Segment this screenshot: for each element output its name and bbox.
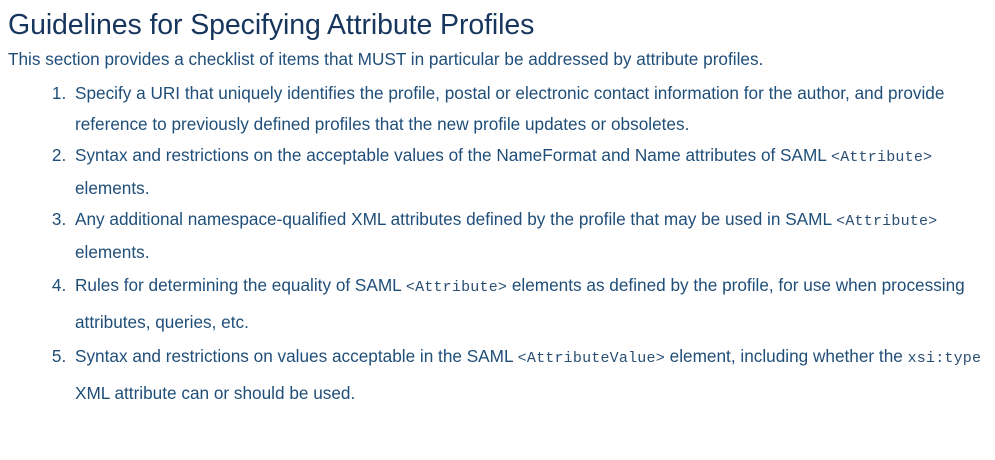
list-item: Syntax and restrictions on the acceptabl… [71, 140, 985, 204]
inline-code: <AttributeValue> [518, 350, 665, 367]
list-item-text: XML attribute can or should be used. [75, 383, 355, 403]
document-page: Guidelines for Specifying Attribute Prof… [0, 0, 995, 460]
inline-code: <Attribute> [831, 149, 932, 166]
inline-code: <Attribute> [836, 213, 937, 230]
guidelines-ordered-list: Specify a URI that uniquely identifies t… [8, 78, 985, 410]
list-item: Rules for determining the equality of SA… [71, 268, 985, 339]
list-item: Any additional namespace-qualified XML a… [71, 204, 985, 268]
list-item-text: element, including whether the [665, 346, 908, 366]
list-item-text: Specify a URI that uniquely identifies t… [75, 83, 944, 134]
list-item-text: Rules for determining the equality of SA… [75, 275, 406, 295]
list-item-text: elements. [75, 178, 150, 198]
list-item: Specify a URI that uniquely identifies t… [71, 78, 985, 140]
inline-code: xsi:type [908, 350, 982, 367]
list-item: Syntax and restrictions on values accept… [71, 339, 985, 410]
section-intro-paragraph: This section provides a checklist of ite… [8, 46, 985, 72]
list-item-text: Any additional namespace-qualified XML a… [75, 209, 836, 229]
list-item-text: Syntax and restrictions on values accept… [75, 346, 518, 366]
inline-code: <Attribute> [406, 279, 507, 296]
page-title: Guidelines for Specifying Attribute Prof… [8, 6, 985, 44]
list-item-text: Syntax and restrictions on the acceptabl… [75, 145, 831, 165]
list-item-text: elements. [75, 242, 150, 262]
